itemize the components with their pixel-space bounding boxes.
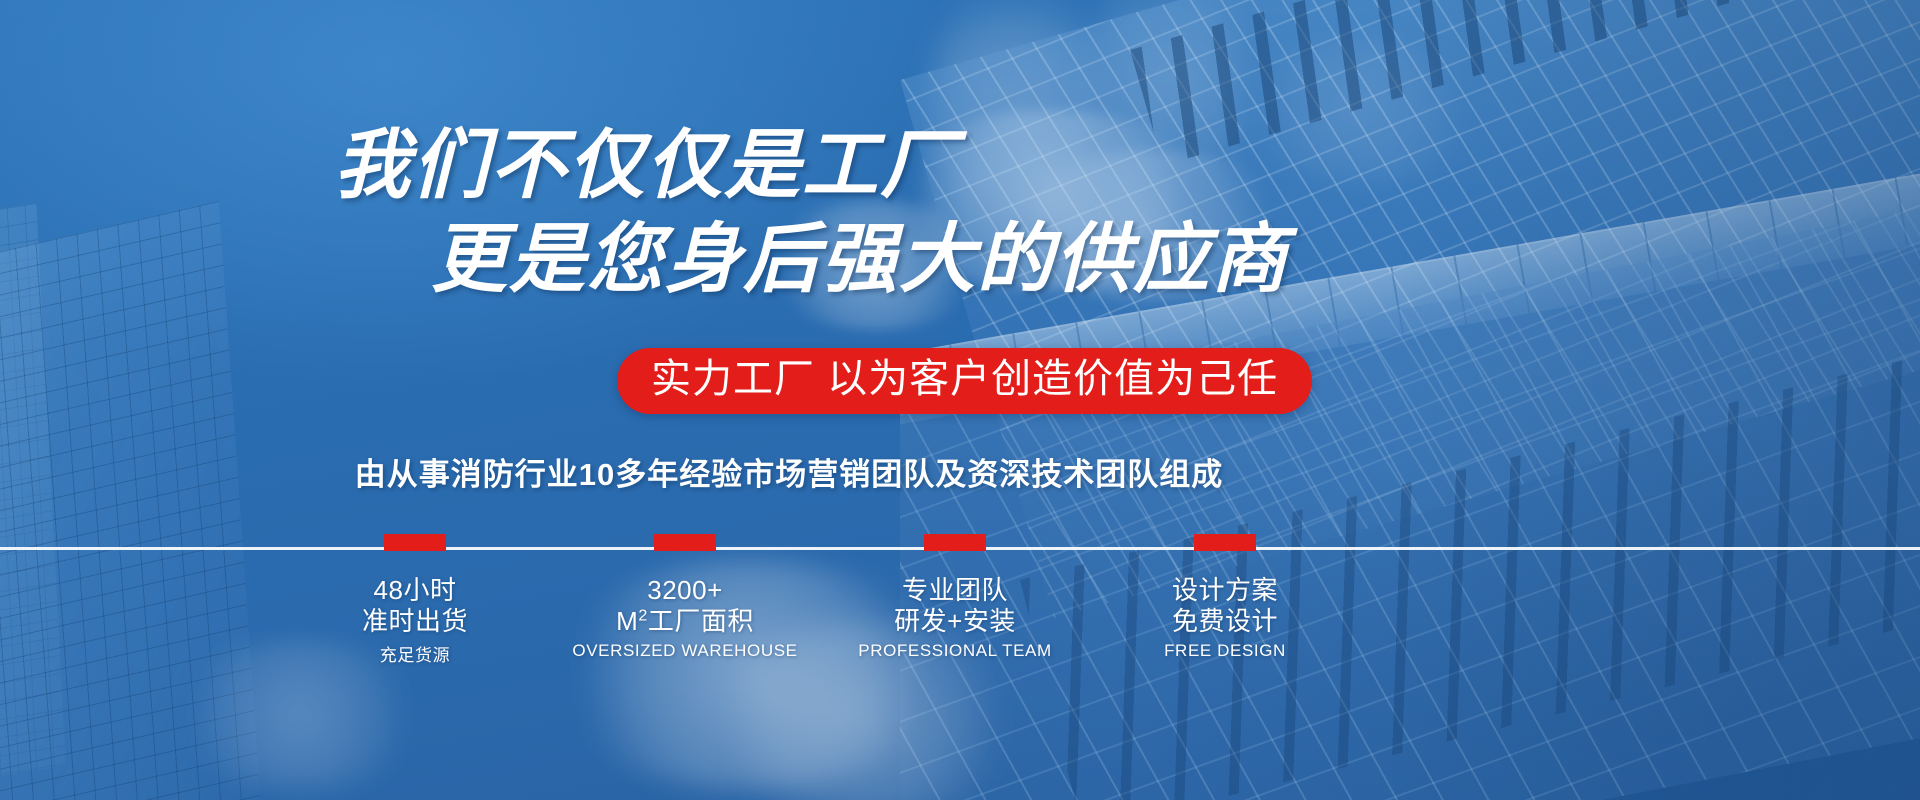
promo-banner: 我们不仅仅是工厂 更是您身后强大的供应商 实力工厂 以为客户创造价值为己任 由从… [0, 0, 1920, 800]
feature-line-1: 3200+ [560, 575, 810, 606]
feature-line-2: 准时出货 [290, 606, 540, 637]
subtitle: 由从事消防行业10多年经验市场营销团队及资深技术团队组成 [0, 449, 1578, 494]
red-marker-icon [654, 534, 716, 551]
feature-line-2-prefix: M [616, 606, 638, 636]
feature-line-2: 研发+安装 [830, 606, 1080, 637]
headline: 我们不仅仅是工厂 更是您身后强大的供应商 [0, 128, 1500, 298]
feature-item-design: 设计方案 免费设计 FREE DESIGN [1100, 534, 1350, 666]
feature-line-3: PROFESSIONAL TEAM [830, 641, 1080, 661]
feature-line-2: M2工厂面积 [560, 606, 810, 637]
feature-line-2-superscript: 2 [638, 606, 647, 624]
slogan-badge: 实力工厂 以为客户创造价值为己任 [617, 348, 1312, 414]
red-marker-icon [384, 534, 446, 551]
feature-line-2-suffix: 工厂面积 [648, 606, 754, 636]
red-marker-icon [1194, 534, 1256, 551]
headline-line-1: 我们不仅仅是工厂 [0, 128, 1396, 204]
banner-content: 我们不仅仅是工厂 更是您身后强大的供应商 实力工厂 以为客户创造价值为己任 由从… [0, 0, 1920, 800]
feature-line-1: 设计方案 [1100, 575, 1350, 606]
feature-line-3: 充足货源 [290, 641, 540, 666]
feature-list: 48小时 准时出货 充足货源 3200+ M2工厂面积 OVERSIZED WA… [290, 534, 1350, 666]
red-marker-icon [924, 534, 986, 551]
feature-line-3: OVERSIZED WAREHOUSE [560, 641, 810, 661]
feature-item-delivery: 48小时 准时出货 充足货源 [290, 534, 540, 666]
feature-item-team: 专业团队 研发+安装 PROFESSIONAL TEAM [830, 534, 1080, 666]
feature-line-2: 免费设计 [1100, 606, 1350, 637]
feature-line-1: 专业团队 [830, 575, 1080, 606]
feature-line-3: FREE DESIGN [1100, 641, 1350, 661]
feature-item-warehouse: 3200+ M2工厂面积 OVERSIZED WAREHOUSE [560, 534, 810, 666]
feature-line-1: 48小时 [290, 575, 540, 606]
headline-line-2: 更是您身后强大的供应商 [110, 222, 1610, 298]
